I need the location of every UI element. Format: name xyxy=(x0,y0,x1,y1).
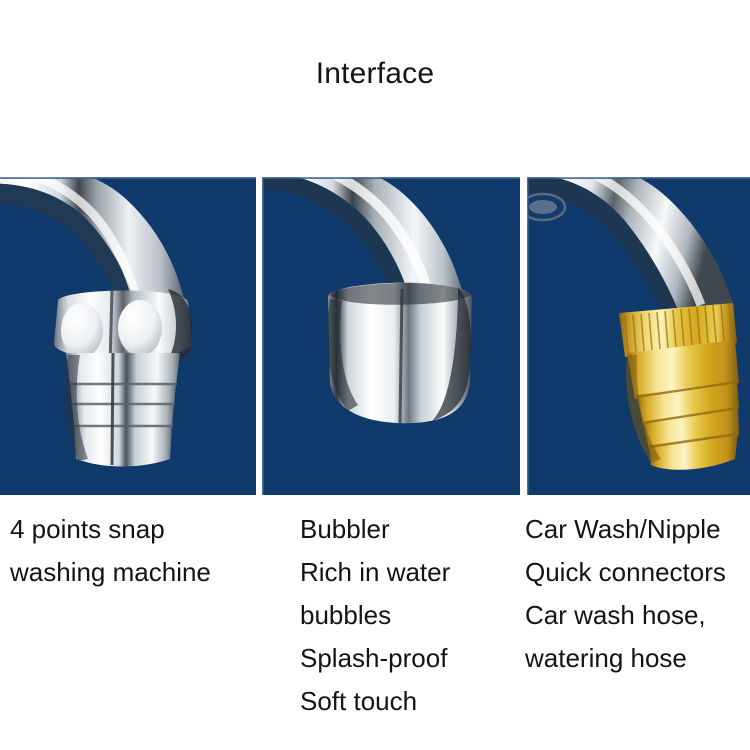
caption-car-wash-nipple: Car Wash/Nipple Quick connectors Car was… xyxy=(525,508,726,680)
panel-car-wash-nipple xyxy=(527,177,750,495)
product-feature-image: Interface xyxy=(0,0,750,750)
caption-line: watering hose xyxy=(525,637,726,680)
chrome-faucet-brass-quick-connector-icon xyxy=(527,177,750,495)
panel-bubbler xyxy=(262,177,520,495)
caption-line: Rich in water xyxy=(300,551,450,594)
caption-four-point-snap: 4 points snap washing machine xyxy=(10,508,211,594)
panel-row xyxy=(0,177,750,495)
caption-line: Bubbler xyxy=(300,508,450,551)
chrome-faucet-4point-snap-connector-icon xyxy=(0,177,256,495)
caption-bubbler: Bubbler Rich in water bubbles Splash-pro… xyxy=(300,508,450,723)
caption-line: Car wash hose, xyxy=(525,594,726,637)
page-title: Interface xyxy=(0,55,750,93)
caption-line: Car Wash/Nipple xyxy=(525,508,726,551)
caption-line: Soft touch xyxy=(300,680,450,723)
caption-line: bubbles xyxy=(300,594,450,637)
caption-line: Splash-proof xyxy=(300,637,450,680)
panel-four-point-snap xyxy=(0,177,256,495)
chrome-faucet-bubbler-aerator-icon xyxy=(262,177,520,495)
caption-line: Quick connectors xyxy=(525,551,726,594)
caption-line: 4 points snap xyxy=(10,508,211,551)
caption-line: washing machine xyxy=(10,551,211,594)
